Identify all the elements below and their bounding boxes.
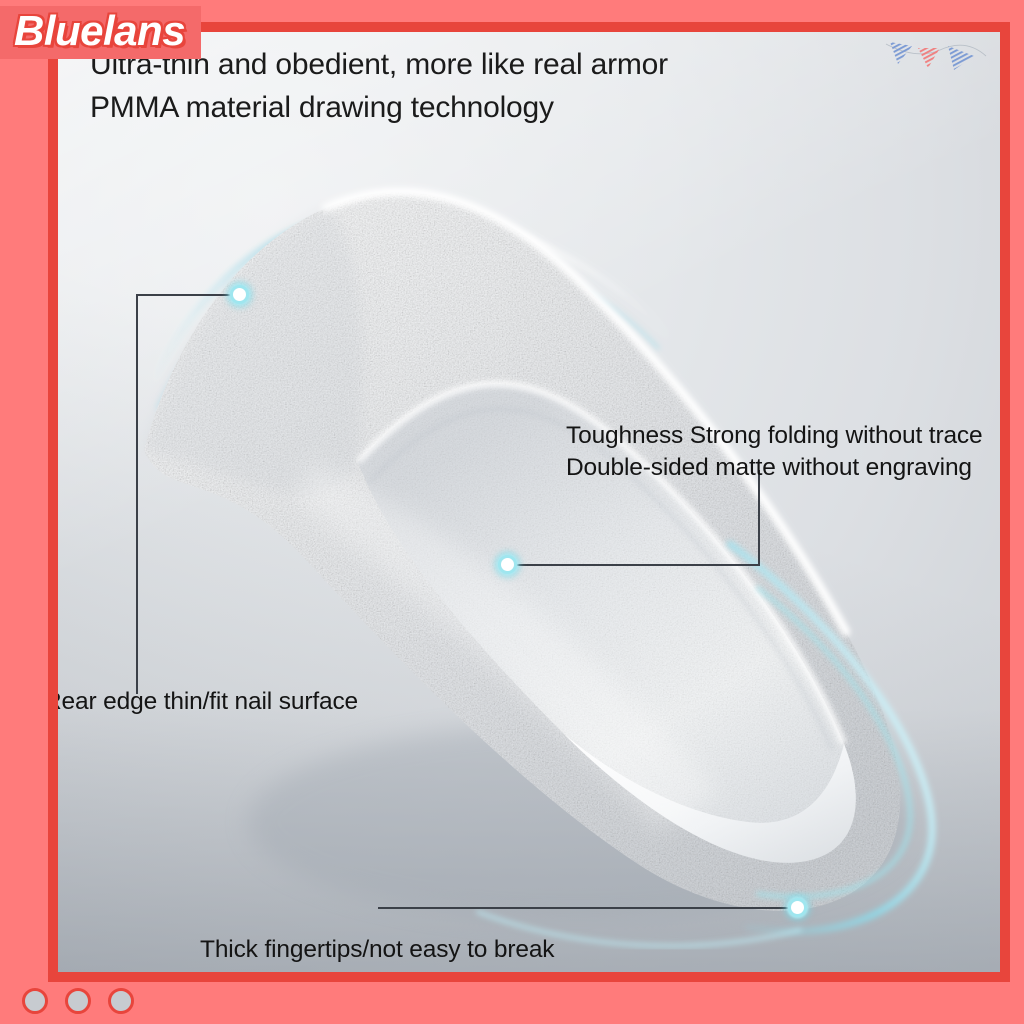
annotation-rear-edge-text: Rear edge thin/fit nail surface [58, 686, 358, 718]
leader-line-rear-edge-horizontal [136, 294, 240, 296]
pager-dot-1[interactable] [22, 988, 48, 1014]
page-title: Ultra-thin and obedient, more like real … [90, 44, 992, 129]
flag-red-1 [918, 48, 940, 68]
leader-line-toughness-horizontal [510, 564, 760, 566]
callout-dot-toughness[interactable] [498, 555, 517, 574]
callout-dot-rear-edge[interactable] [230, 285, 249, 304]
product-illustration [58, 32, 1000, 972]
pager-dots[interactable] [22, 988, 134, 1014]
annotation-toughness: Toughness Strong folding without trace D… [566, 420, 983, 484]
leader-line-fingertips-horizontal [378, 907, 796, 909]
annotation-fingertips-text: Thick fingertips/not easy to break [200, 934, 554, 966]
bunting-flags-icon [882, 32, 990, 86]
headline-line-1: Ultra-thin and obedient, more like real … [90, 44, 992, 87]
headline-line-2: PMMA material drawing technology [90, 87, 992, 130]
product-shaft-shading [144, 208, 363, 493]
brand-watermark: Bluelans [0, 6, 201, 59]
callout-dot-fingertips[interactable] [788, 898, 807, 917]
brand-watermark-text: Bluelans [14, 7, 185, 54]
photo-area: Ultra-thin and obedient, more like real … [58, 32, 1000, 972]
pager-dot-2[interactable] [65, 988, 91, 1014]
annotation-fingertips: Thick fingertips/not easy to break [200, 934, 554, 966]
product-infographic: Ultra-thin and obedient, more like real … [0, 0, 1024, 1024]
annotation-toughness-line-2: Double-sided matte without engraving [566, 452, 983, 484]
leader-line-rear-edge-vertical [136, 294, 138, 694]
flag-blue-2 [948, 46, 974, 70]
leader-line-toughness-vertical [758, 470, 760, 566]
pager-dot-3[interactable] [108, 988, 134, 1014]
annotation-toughness-line-1: Toughness Strong folding without trace [566, 420, 983, 452]
annotation-rear-edge: Rear edge thin/fit nail surface [58, 686, 358, 718]
